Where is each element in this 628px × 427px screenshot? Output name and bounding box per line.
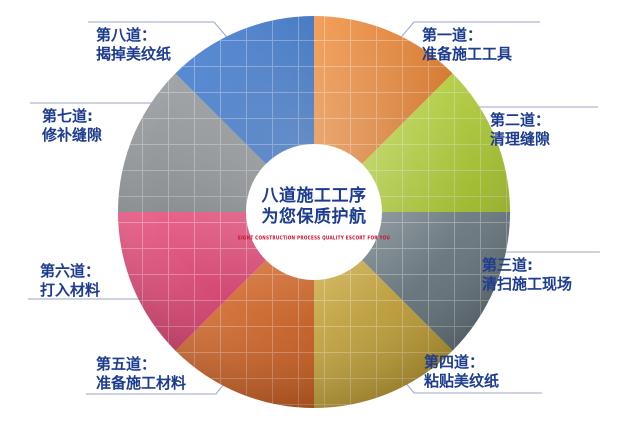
step-3-title: 第三道: [482, 256, 572, 275]
step-label-3[interactable]: 第三道: 清扫施工现场 [482, 256, 572, 294]
step-label-6[interactable]: 第六道： 打入材料 [40, 262, 100, 300]
step-5-desc: 准备施工材料 [96, 374, 186, 393]
step-5-title: 第五道： [96, 355, 186, 374]
step-6-title: 第六道： [40, 262, 100, 281]
process-wheel-infographic: 八道施工工序 为您保质护航 EIGHT CONSTRUCTION PROCESS… [0, 0, 628, 427]
step-label-7[interactable]: 第七道: 修补缝隙 [42, 107, 102, 145]
center-subtitle: EIGHT CONSTRUCTION PROCESS QUALITY ESCOR… [238, 234, 390, 240]
process-wheel-donut: 八道施工工序 为您保质护航 EIGHT CONSTRUCTION PROCESS… [116, 14, 512, 410]
step-2-title: 第二道： [490, 111, 550, 130]
step-3-desc: 清扫施工现场 [482, 275, 572, 294]
center-headline-line1: 八道施工工序 [262, 186, 367, 207]
step-label-1[interactable]: 第一道： 准备施工工具 [422, 26, 512, 64]
wheel-center-hub: 八道施工工序 为您保质护航 EIGHT CONSTRUCTION PROCESS… [246, 144, 382, 280]
step-4-desc: 粘贴美纹纸 [424, 372, 499, 391]
step-7-desc: 修补缝隙 [42, 126, 102, 145]
step-1-desc: 准备施工工具 [422, 45, 512, 64]
step-label-8[interactable]: 第八道： 揭掉美纹纸 [96, 26, 171, 64]
step-4-title: 第四道： [424, 353, 499, 372]
step-8-title: 第八道： [96, 26, 171, 45]
step-6-desc: 打入材料 [40, 281, 100, 300]
step-label-5[interactable]: 第五道： 准备施工材料 [96, 355, 186, 393]
step-2-desc: 清理缝隙 [490, 130, 550, 149]
center-headline-line2: 为您保质护航 [262, 207, 367, 228]
step-7-title: 第七道: [42, 107, 102, 126]
step-label-4[interactable]: 第四道： 粘贴美纹纸 [424, 353, 499, 391]
step-8-desc: 揭掉美纹纸 [96, 45, 171, 64]
step-1-title: 第一道： [422, 26, 512, 45]
step-label-2[interactable]: 第二道： 清理缝隙 [490, 111, 550, 149]
